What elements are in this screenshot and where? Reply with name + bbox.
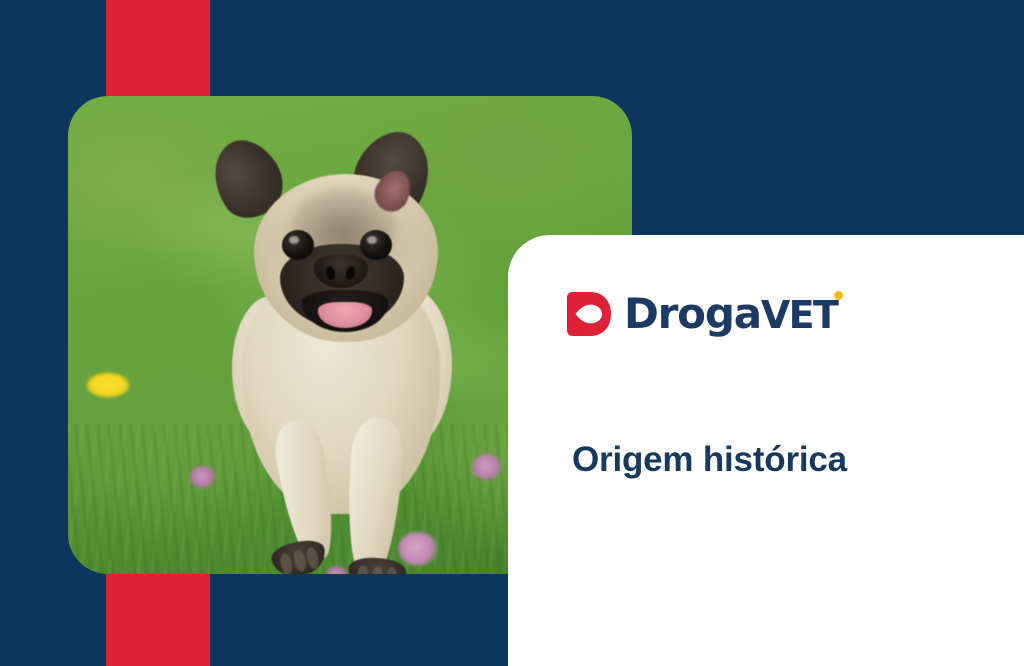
brand-logo: DrogaVET <box>564 283 854 345</box>
content-panel: DrogaVET Origem histórica <box>508 235 1024 666</box>
pug-nostril-right <box>344 265 357 281</box>
brand-wordmark: DrogaVET <box>624 283 837 345</box>
pug-dog-illustration <box>198 118 498 574</box>
pug-eye-right <box>360 230 392 260</box>
pug-paw-left <box>269 537 329 574</box>
pug-paw-toe <box>356 565 369 574</box>
pug-paw-toe <box>292 549 307 573</box>
pug-eye-glint <box>289 236 299 244</box>
drogavet-logo-mark-icon <box>564 289 614 339</box>
pug-eye-left <box>282 230 314 260</box>
pug-nostril-left <box>324 265 337 281</box>
pug-paw-toe <box>385 567 398 574</box>
dandelion-flower-icon <box>86 372 130 398</box>
pug-eye-glint <box>367 236 377 244</box>
slide-title: Origem histórica <box>572 440 992 480</box>
pug-paw-toe <box>279 552 294 574</box>
wordmark-vet-text: VET <box>761 293 838 337</box>
pug-paw-toe <box>371 566 384 574</box>
slide-canvas: DrogaVET Origem histórica <box>0 0 1024 666</box>
pug-paw-toe <box>305 546 320 570</box>
wordmark-droga-text: DrogaVET <box>624 293 837 335</box>
brand-accent-dot-icon <box>834 291 843 300</box>
